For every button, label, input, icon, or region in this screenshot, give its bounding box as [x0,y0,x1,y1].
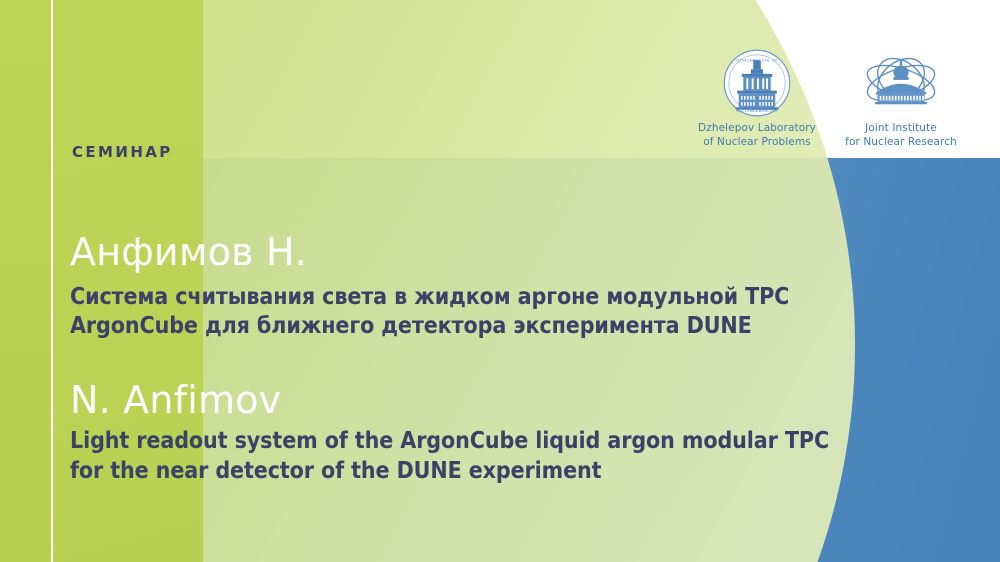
logo-group: DZHELEPOV LAB. OF NUCLEAR PROBLEMS [696,48,964,156]
logo-jinr: Joint Institute for Nuclear Research [840,48,962,149]
seminar-kicker-label: СЕМИНАР [72,143,173,161]
logo-dzhelepov-laboratory: DZHELEPOV LAB. OF NUCLEAR PROBLEMS [696,48,818,149]
talk-title-russian-line-1: Система считывания света в жидком аргоне… [70,283,950,312]
logo-caption-line-2: for Nuclear Research [845,136,957,148]
logo-caption-line-2: of Nuclear Problems [703,136,811,148]
white-vertical-rule [51,0,53,562]
logo-caption-line-1: Dzhelepov Laboratory [698,122,816,134]
talk-title-english-line-1: Light readout system of the ArgonCube li… [70,426,960,456]
logo-caption-line-1: Joint Institute [865,122,937,134]
logo-caption-jinr: Joint Institute for Nuclear Research [845,121,957,149]
talk-title-english-line-2: for the near detector of the DUNE experi… [70,456,960,486]
seminar-announcement-slide: DZHELEPOV LAB. OF NUCLEAR PROBLEMS [0,0,1000,562]
talk-title-russian-line-2: ArgonCube для ближнего детектора экспери… [70,312,950,341]
logo-caption-dzhelepov: Dzhelepov Laboratory of Nuclear Problems [698,121,816,149]
speaker-name-english: N. Anfimov [70,378,281,422]
speaker-name-russian: Анфимов Н. [70,230,307,274]
talk-title-english: Light readout system of the ArgonCube li… [70,426,960,486]
talk-title-russian: Система считывания света в жидком аргоне… [70,283,950,341]
background-left-green-band [0,0,51,562]
jinr-atom-emblem-icon [862,48,940,118]
dzhelepov-laboratory-emblem-icon: DZHELEPOV LAB. OF NUCLEAR PROBLEMS [718,48,796,118]
